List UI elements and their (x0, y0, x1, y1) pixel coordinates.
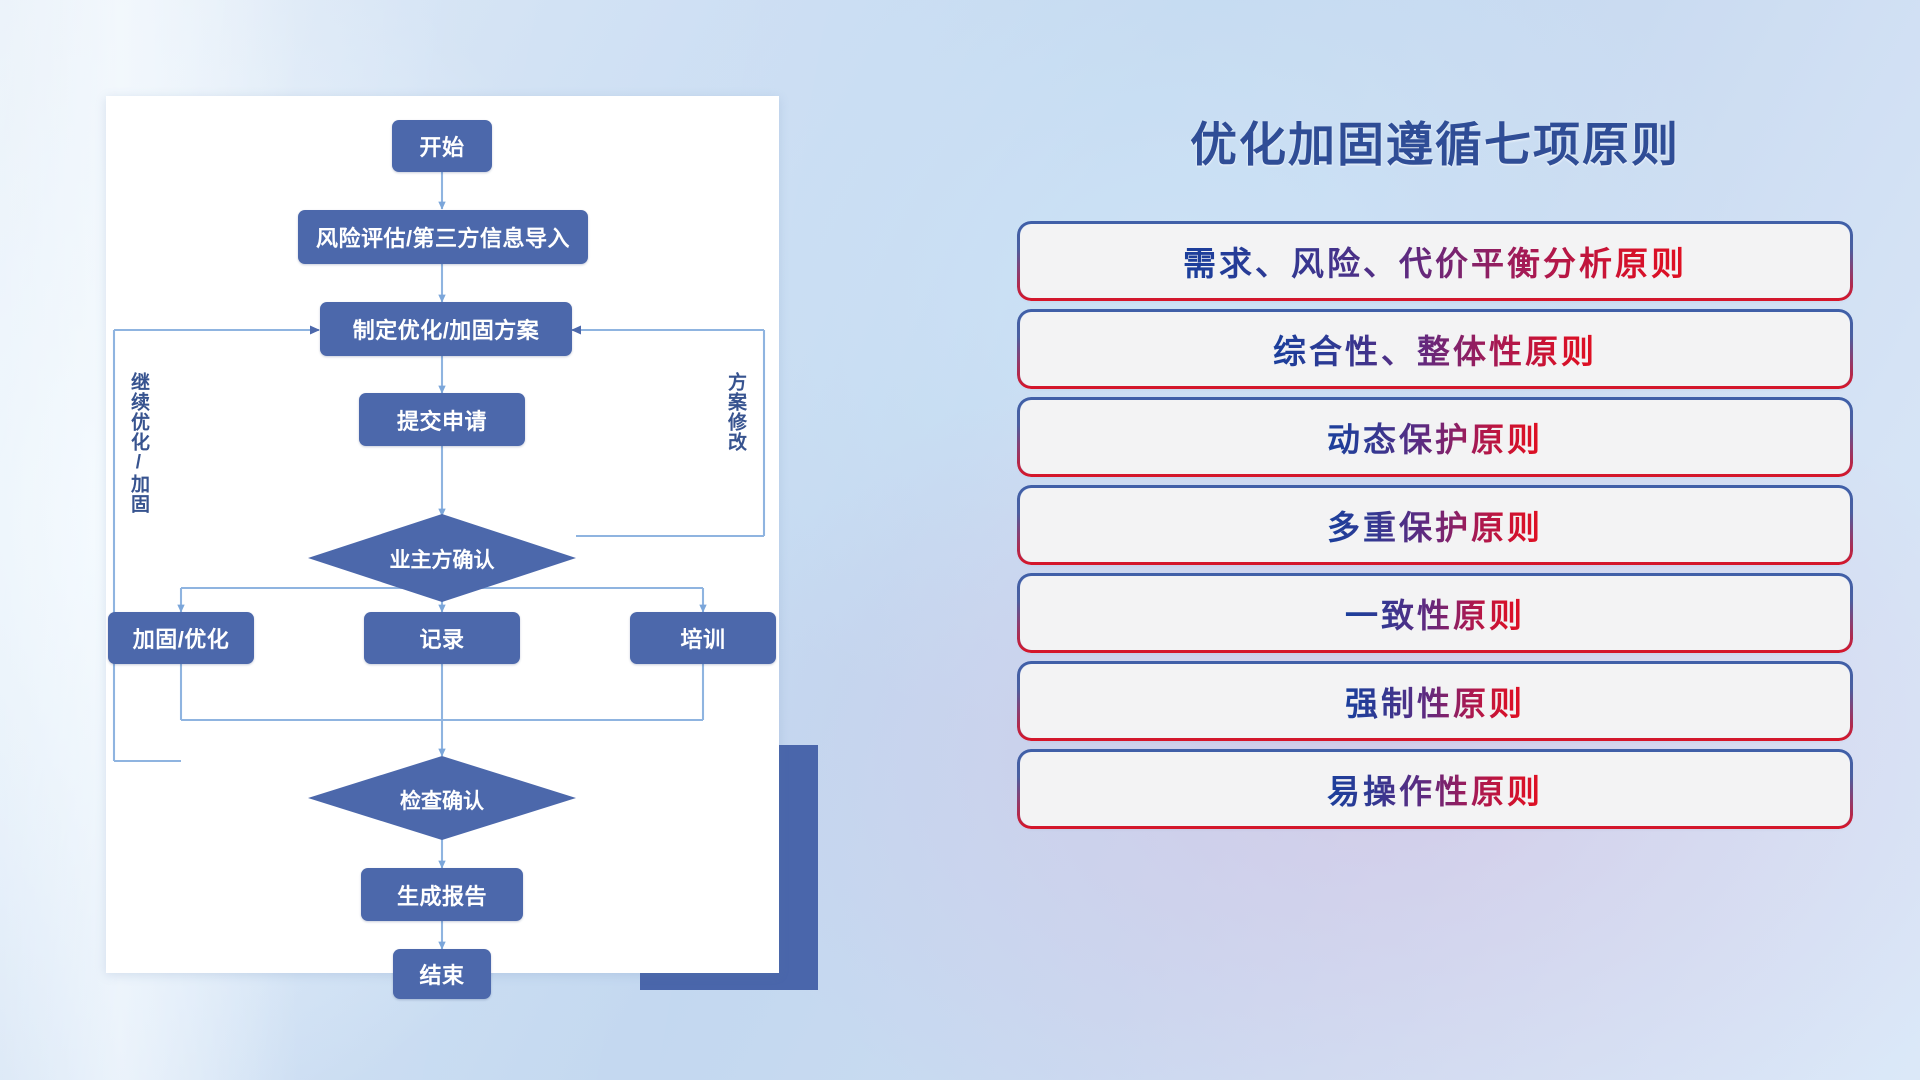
flow-node-risk-assessment-label: 风险评估/第三方信息导入 (316, 221, 570, 253)
principle-card-3[interactable]: 动态保护原则 (1020, 400, 1850, 474)
principles-panel: 优化加固遵循七项原则 需求、风险、代价平衡分析原则 综合性、整体性原则 动态保护… (1020, 96, 1850, 1006)
principles-card-list: 需求、风险、代价平衡分析原则 综合性、整体性原则 动态保护原则 多重保护原则 一… (1020, 224, 1850, 840)
principle-card-5-label: 一致性原则 (1345, 589, 1525, 637)
flow-diamond-check[interactable] (308, 756, 576, 840)
flow-node-reinforce-label: 加固/优化 (133, 622, 230, 654)
flow-node-training[interactable]: 培训 (630, 612, 776, 664)
flow-node-start-label: 开始 (419, 130, 464, 162)
flow-node-start[interactable]: 开始 (392, 120, 492, 172)
flow-node-reinforce[interactable]: 加固/优化 (108, 612, 254, 664)
principle-card-6[interactable]: 强制性原则 (1020, 664, 1850, 738)
principle-card-4[interactable]: 多重保护原则 (1020, 488, 1850, 562)
principle-card-7[interactable]: 易操作性原则 (1020, 752, 1850, 826)
flow-node-record[interactable]: 记录 (364, 612, 520, 664)
principle-card-3-label: 动态保护原则 (1327, 413, 1543, 461)
flow-node-risk-assessment[interactable]: 风险评估/第三方信息导入 (298, 210, 588, 264)
flow-node-submit-label: 提交申请 (397, 404, 487, 436)
principle-card-2-label: 综合性、整体性原则 (1273, 325, 1597, 373)
flow-node-report-label: 生成报告 (397, 879, 487, 911)
principle-card-2[interactable]: 综合性、整体性原则 (1020, 312, 1850, 386)
principle-card-1-label: 需求、风险、代价平衡分析原则 (1183, 237, 1687, 285)
flowchart-card: 开始 风险评估/第三方信息导入 制定优化/加固方案 提交申请 业主方确认 加固/… (106, 96, 779, 973)
principle-card-5[interactable]: 一致性原则 (1020, 576, 1850, 650)
principle-card-6-label: 强制性原则 (1345, 677, 1525, 725)
flow-edge-label-continue-optimize: 继续优化/加固 (128, 372, 148, 514)
flow-node-report[interactable]: 生成报告 (361, 868, 523, 921)
flow-node-end-label: 结束 (419, 958, 464, 990)
principle-card-1[interactable]: 需求、风险、代价平衡分析原则 (1020, 224, 1850, 298)
flow-node-record-label: 记录 (419, 622, 464, 654)
flow-edge-label-plan-revision: 方案修改 (725, 372, 745, 452)
flow-node-plan-label: 制定优化/加固方案 (353, 313, 540, 345)
principles-panel-title: 优化加固遵循七项原则 (1020, 106, 1850, 175)
flow-node-submit[interactable]: 提交申请 (359, 393, 525, 446)
flow-node-end[interactable]: 结束 (393, 949, 491, 999)
flow-node-plan[interactable]: 制定优化/加固方案 (320, 302, 572, 356)
flowchart-canvas: 开始 风险评估/第三方信息导入 制定优化/加固方案 提交申请 业主方确认 加固/… (106, 96, 779, 973)
principle-card-7-label: 易操作性原则 (1327, 765, 1543, 813)
principle-card-4-label: 多重保护原则 (1327, 501, 1543, 549)
flow-node-training-label: 培训 (680, 622, 725, 654)
